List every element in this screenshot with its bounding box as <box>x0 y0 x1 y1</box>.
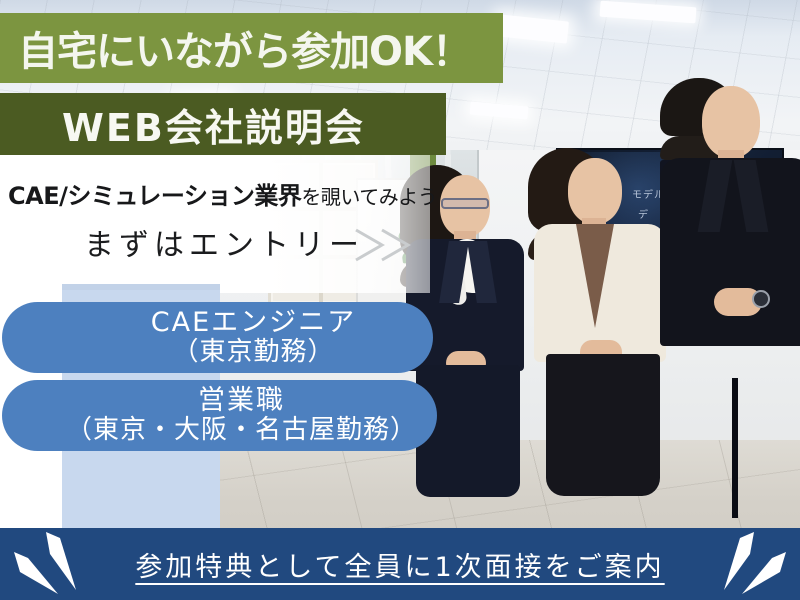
glasses-icon <box>441 198 489 209</box>
bottom-banner-text: 参加特典として全員に1次面接をご案内 <box>0 528 800 600</box>
position-location: （東京・大阪・名古屋勤務） <box>66 416 417 445</box>
face <box>702 86 760 158</box>
subhead-line-2: まずはエントリー <box>84 220 364 264</box>
headline-band-primary-text: 自宅にいながら参加OK！ <box>18 19 471 77</box>
position-title: 営業職 <box>198 386 285 415</box>
headline-band-secondary-text: WEB会社説明会 <box>62 97 365 152</box>
subhead-line-1: CAE/シミュレーション業界を覗いてみよう <box>8 176 437 211</box>
bottom-banner: 参加特典として全員に1次面接をご案内 <box>0 528 800 600</box>
wristwatch-icon <box>752 290 770 308</box>
skirt <box>546 354 660 496</box>
person-right <box>660 78 800 518</box>
poster-root: モデル デ <box>0 0 800 600</box>
headline-band-secondary: WEB会社説明会 <box>0 93 446 155</box>
position-pill-sales[interactable]: 営業職 （東京・大阪・名古屋勤務） <box>2 380 437 451</box>
headline-band-primary: 自宅にいながら参加OK！ <box>0 13 503 83</box>
position-pill-cae-engineer[interactable]: CAEエンジニア （東京勤務） <box>2 302 433 373</box>
double-chevron-right-icon <box>352 224 420 266</box>
suit-jacket <box>660 158 800 346</box>
position-title: CAEエンジニア <box>151 308 356 337</box>
subhead-industry-tail: を覗いてみよう <box>301 185 437 209</box>
trouser-leg-split <box>732 378 738 518</box>
person-center <box>528 148 678 518</box>
face <box>568 158 622 224</box>
position-location: （東京勤務） <box>172 338 334 367</box>
subhead-industry-text: CAE/シミュレーション業界 <box>8 182 301 210</box>
